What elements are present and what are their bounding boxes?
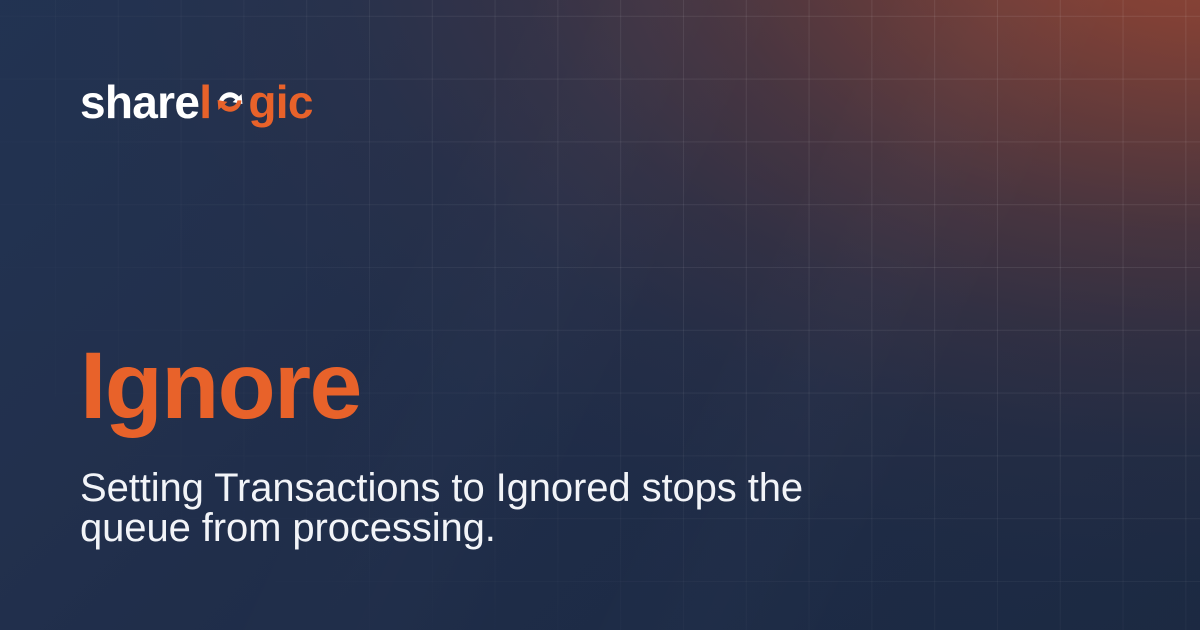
social-card: sharel gic Ignore Setting Transactions t… — [0, 0, 1200, 630]
refresh-sync-icon — [213, 85, 247, 119]
logo-text-gic: gic — [248, 79, 312, 125]
logo-text-l: l — [199, 79, 211, 125]
sharelogic-logo[interactable]: sharel gic — [80, 79, 313, 125]
page-subtitle-line-1: Setting Transactions to Ignored stops th… — [80, 468, 840, 508]
page-subtitle-line-2: queue from processing. — [80, 508, 840, 548]
card-content: sharel gic Ignore Setting Transactions t… — [0, 0, 1200, 630]
page-subtitle: Setting Transactions to Ignored stops th… — [80, 468, 840, 548]
logo-text-share: share — [80, 79, 199, 125]
page-title: Ignore — [80, 339, 361, 434]
